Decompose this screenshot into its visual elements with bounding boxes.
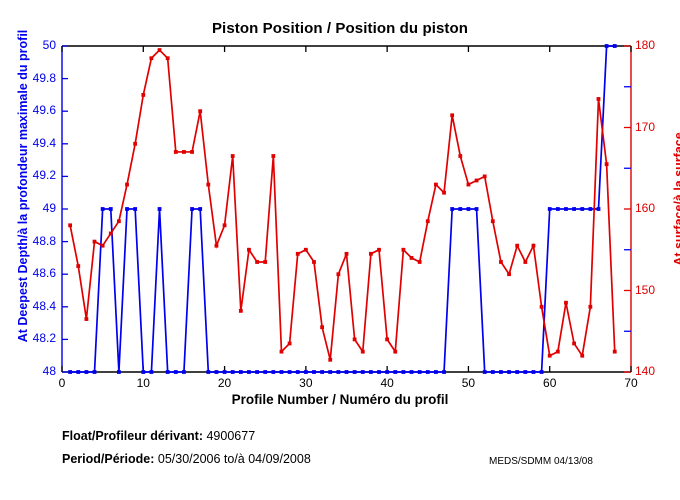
y-tick-left-1: 48.2 xyxy=(8,331,56,345)
y-tick-left-3: 48.6 xyxy=(8,266,56,280)
y-tick-left-8: 49.6 xyxy=(8,103,56,117)
period-value: 05/30/2006 to/à 04/09/2008 xyxy=(158,452,311,466)
period-label: Period/Période: xyxy=(62,452,154,466)
chart-canvas: Piston Position / Position du piston At … xyxy=(0,0,680,500)
x-tick-4: 40 xyxy=(367,376,407,390)
float-line: Float/Profileur dérivant: 4900677 xyxy=(62,429,255,443)
x-tick-1: 10 xyxy=(123,376,163,390)
y-tick-left-2: 48.4 xyxy=(8,299,56,313)
y-tick-left-9: 49.8 xyxy=(8,71,56,85)
y-tick-left-10: 50 xyxy=(8,38,56,52)
series-at-surface xyxy=(68,48,616,362)
y-tick-left-6: 49.2 xyxy=(8,168,56,182)
x-tick-5: 50 xyxy=(448,376,488,390)
x-tick-7: 70 xyxy=(611,376,651,390)
float-value: 4900677 xyxy=(206,429,255,443)
credit-text: MEDS/SDMM 04/13/08 xyxy=(489,456,593,467)
y-tick-left-7: 49.4 xyxy=(8,136,56,150)
x-tick-6: 60 xyxy=(530,376,570,390)
y-tick-right-8: 180 xyxy=(635,38,655,52)
y-tick-right-2: 150 xyxy=(635,283,655,297)
plot-area xyxy=(0,0,680,500)
y-tick-left-5: 49 xyxy=(8,201,56,215)
x-tick-3: 30 xyxy=(286,376,326,390)
x-tick-0: 0 xyxy=(42,376,82,390)
y-tick-right-6: 170 xyxy=(635,120,655,134)
period-line: Period/Période: 05/30/2006 to/à 04/09/20… xyxy=(62,452,311,466)
y-tick-left-4: 48.8 xyxy=(8,234,56,248)
x-tick-2: 20 xyxy=(205,376,245,390)
y-tick-right-4: 160 xyxy=(635,201,655,215)
float-label: Float/Profileur dérivant: xyxy=(62,429,203,443)
series-deepest-depth xyxy=(68,44,616,374)
